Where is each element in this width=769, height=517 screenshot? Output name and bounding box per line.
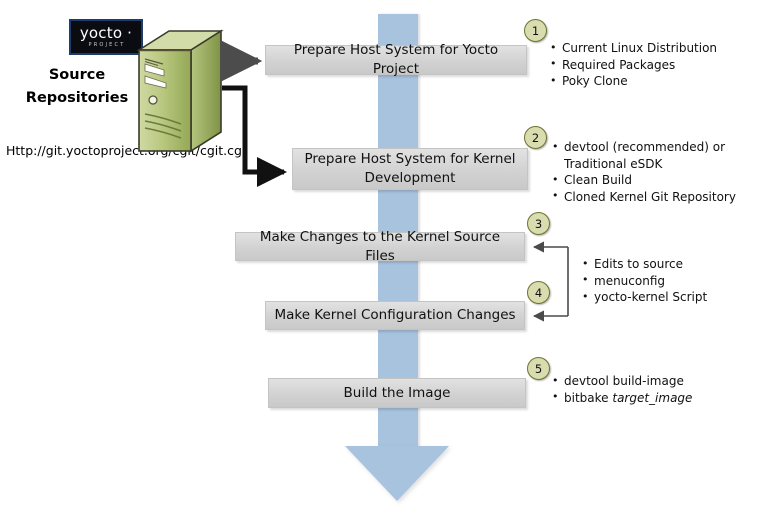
flow-arrow-head [345, 446, 449, 501]
step-box-make-kernel-config-changes[interactable]: Make Kernel Configuration Changes [265, 301, 525, 330]
step-3-4-notes: Edits to source menuconfig yocto-kernel … [582, 256, 707, 306]
list-item: devtool (recommended) or Traditional eSD… [552, 139, 736, 172]
list-item-command: bitbake [564, 391, 612, 405]
list-item: Cloned Kernel Git Repository [552, 189, 736, 206]
source-label-line-1: Source [12, 64, 142, 87]
list-item: Current Linux Distribution [550, 40, 717, 57]
yocto-project-logo: yocto · PROJECT [69, 19, 143, 55]
server-tower-icon [136, 28, 224, 155]
list-item: devtool build-image [552, 373, 692, 390]
step-2-notes: devtool (recommended) or Traditional eSD… [552, 139, 736, 205]
arrow-server-to-step2 [222, 88, 284, 172]
list-item-argument: target_image [612, 391, 692, 405]
source-label-line-2: Repositories [12, 87, 142, 110]
source-repositories-label: Source Repositories [12, 64, 142, 110]
step-box-build-the-image[interactable]: Build the Image [268, 378, 526, 408]
list-item-line-1: devtool (recommended) or [564, 140, 725, 154]
list-item: Clean Build [552, 172, 736, 189]
list-item-line-2: Traditional eSDK [564, 156, 736, 173]
step-badge-2: 2 [524, 126, 547, 149]
list-item: Poky Clone [550, 73, 717, 90]
step-badge-1: 1 [524, 19, 547, 42]
list-item: Required Packages [550, 57, 717, 74]
list-item: bitbake target_image [552, 390, 692, 407]
list-item: yocto-kernel Script [582, 289, 707, 306]
step-badge-4: 4 [527, 281, 550, 304]
step-badge-5: 5 [527, 357, 550, 380]
list-item: Edits to source [582, 256, 707, 273]
logo-wordmark: yocto · [80, 26, 132, 41]
step-1-notes: Current Linux Distribution Required Pack… [550, 40, 717, 90]
step-badge-3: 3 [527, 212, 550, 235]
diagram-canvas: yocto · PROJECT Source Repositories Http… [0, 0, 769, 517]
step-box-prepare-host-yocto[interactable]: Prepare Host System for Yocto Project [265, 45, 527, 75]
logo-subtext: PROJECT [88, 43, 125, 48]
list-item: menuconfig [582, 273, 707, 290]
step-box-make-kernel-source-changes[interactable]: Make Changes to the Kernel Source Files [235, 232, 525, 261]
step-5-notes: devtool build-image bitbake target_image [552, 373, 692, 406]
step-box-prepare-host-kernel[interactable]: Prepare Host System for Kernel Developme… [292, 148, 528, 190]
